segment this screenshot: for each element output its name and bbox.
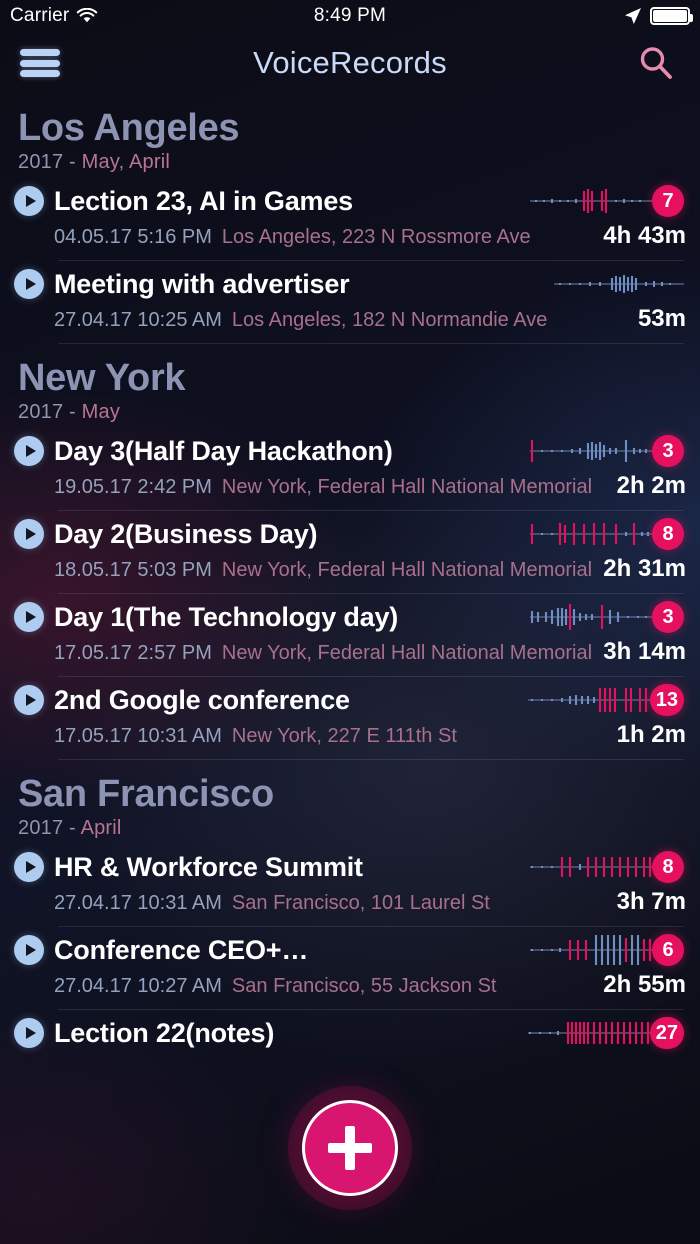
record-title: Day 1(The Technology day) [54, 602, 530, 633]
record-marker-badge: 7 [652, 185, 684, 217]
record-marker-badge: 27 [650, 1017, 684, 1049]
record-location: New York, Federal Hall National Memorial [222, 476, 609, 499]
record-waveform: 6 [530, 933, 686, 967]
section-header: Los Angeles2017 - May, April [0, 94, 700, 178]
status-bar-right [624, 7, 690, 25]
section-city-name: San Francisco [18, 774, 700, 815]
battery-full-icon [650, 7, 690, 25]
record-marker-badge: 8 [652, 851, 684, 883]
section-subtitle: 2017 - April [18, 817, 700, 840]
play-icon[interactable] [14, 436, 44, 466]
record-waveform: 13 [528, 683, 686, 717]
navigation-bar: VoiceRecords [0, 32, 700, 94]
record-row-top: HR & Workforce Summit8 [14, 850, 686, 884]
record-location: San Francisco, 55 Jackson St [232, 975, 595, 998]
section-city-name: New York [18, 358, 700, 399]
record-waveform: 8 [530, 850, 686, 884]
record-title: Meeting with advertiser [54, 269, 554, 300]
add-record-button[interactable] [302, 1100, 398, 1196]
record-row[interactable]: 2nd Google conference1317.05.17 10:31 AM… [0, 677, 700, 759]
record-row[interactable]: Day 3(Half Day Hackathon)319.05.17 2:42 … [0, 428, 700, 510]
record-waveform: 8 [530, 517, 686, 551]
record-marker-badge: 3 [652, 435, 684, 467]
record-waveform: 27 [528, 1016, 686, 1050]
play-icon[interactable] [14, 852, 44, 882]
record-row-top: Conference CEO+…6 [14, 933, 686, 967]
record-row-bottom: 17.05.17 10:31 AMNew York, 227 E 111th S… [14, 721, 686, 749]
record-marker-badge: 6 [652, 934, 684, 966]
record-waveform: 7 [530, 184, 686, 218]
record-row-bottom: 27.04.17 10:25 AMLos Angeles, 182 N Norm… [14, 305, 686, 333]
record-location: New York, 227 E 111th St [232, 725, 609, 748]
section-header: San Francisco2017 - April [0, 760, 700, 844]
record-row-top: Meeting with advertiser [14, 267, 686, 301]
record-date: 17.05.17 10:31 AM [54, 725, 222, 748]
play-icon[interactable] [14, 269, 44, 299]
record-title: 2nd Google conference [54, 685, 528, 716]
record-row-bottom: 19.05.17 2:42 PMNew York, Federal Hall N… [14, 472, 686, 500]
section-year: 2017 - [18, 401, 82, 423]
record-location: New York, Federal Hall National Memorial [222, 642, 595, 665]
section-header: New York2017 - May [0, 344, 700, 428]
section-months: April [81, 817, 122, 839]
record-date: 27.04.17 10:31 AM [54, 892, 222, 915]
records-list[interactable]: Los Angeles2017 - May, AprilLection 23, … [0, 94, 700, 1064]
record-location: New York, Federal Hall National Memorial [222, 559, 595, 582]
page-title: VoiceRecords [253, 45, 447, 81]
record-row-top: Lection 22(notes)27 [14, 1016, 686, 1050]
hamburger-menu-icon[interactable] [20, 46, 60, 80]
status-bar: Carrier 8:49 PM [0, 0, 700, 32]
record-row[interactable]: Lection 23, AI in Games704.05.17 5:16 PM… [0, 178, 700, 260]
hamburger-bar [20, 49, 60, 56]
record-duration: 1h 2m [617, 721, 686, 749]
record-waveform [554, 267, 686, 301]
section-months: May [82, 401, 120, 423]
record-row-top: Day 3(Half Day Hackathon)3 [14, 434, 686, 468]
record-date: 04.05.17 5:16 PM [54, 226, 212, 249]
record-title: Lection 22(notes) [54, 1018, 528, 1049]
app-screen: Carrier 8:49 PM Voice [0, 0, 700, 1244]
record-row-top: 2nd Google conference13 [14, 683, 686, 717]
search-icon[interactable] [634, 41, 678, 85]
record-row[interactable]: Meeting with advertiser27.04.17 10:25 AM… [0, 261, 700, 343]
record-date: 19.05.17 2:42 PM [54, 476, 212, 499]
record-row[interactable]: HR & Workforce Summit827.04.17 10:31 AMS… [0, 844, 700, 926]
record-duration: 4h 43m [603, 222, 686, 250]
section-subtitle: 2017 - May, April [18, 151, 700, 174]
record-marker-badge: 3 [652, 601, 684, 633]
record-duration: 2h 55m [603, 971, 686, 999]
record-title: Day 2(Business Day) [54, 519, 530, 550]
record-marker-badge: 8 [652, 518, 684, 550]
location-arrow-icon [624, 7, 642, 25]
record-date: 17.05.17 2:57 PM [54, 642, 212, 665]
record-location: Los Angeles, 182 N Normandie Ave [232, 309, 630, 332]
record-row-top: Lection 23, AI in Games7 [14, 184, 686, 218]
section-year: 2017 - [18, 151, 82, 173]
record-duration: 2h 31m [603, 555, 686, 583]
record-row-bottom: 04.05.17 5:16 PMLos Angeles, 223 N Rossm… [14, 222, 686, 250]
section-subtitle: 2017 - May [18, 401, 700, 424]
hamburger-bar [20, 70, 60, 77]
record-title: Day 3(Half Day Hackathon) [54, 436, 530, 467]
record-row-bottom: 18.05.17 5:03 PMNew York, Federal Hall N… [14, 555, 686, 583]
record-row[interactable]: Day 1(The Technology day)317.05.17 2:57 … [0, 594, 700, 676]
record-location: San Francisco, 101 Laurel St [232, 892, 609, 915]
record-row-bottom: 27.04.17 10:31 AMSan Francisco, 101 Laur… [14, 888, 686, 916]
play-icon[interactable] [14, 186, 44, 216]
record-marker-badge: 13 [650, 684, 684, 716]
play-icon[interactable] [14, 1018, 44, 1048]
record-duration: 3h 14m [603, 638, 686, 666]
record-row[interactable]: Lection 22(notes)27 [0, 1010, 700, 1064]
record-date: 27.04.17 10:27 AM [54, 975, 222, 998]
record-row[interactable]: Day 2(Business Day)818.05.17 5:03 PMNew … [0, 511, 700, 593]
record-row-bottom: 27.04.17 10:27 AMSan Francisco, 55 Jacks… [14, 971, 686, 999]
record-row-bottom: 17.05.17 2:57 PMNew York, Federal Hall N… [14, 638, 686, 666]
status-bar-time: 8:49 PM [0, 5, 700, 27]
record-waveform: 3 [530, 434, 686, 468]
play-icon[interactable] [14, 685, 44, 715]
record-waveform: 3 [530, 600, 686, 634]
play-icon[interactable] [14, 519, 44, 549]
section-months: May, April [82, 151, 170, 173]
record-date: 18.05.17 5:03 PM [54, 559, 212, 582]
record-row[interactable]: Conference CEO+…627.04.17 10:27 AMSan Fr… [0, 927, 700, 1009]
record-date: 27.04.17 10:25 AM [54, 309, 222, 332]
play-icon[interactable] [14, 935, 44, 965]
section-year: 2017 - [18, 817, 81, 839]
record-row-top: Day 1(The Technology day)3 [14, 600, 686, 634]
record-location: Los Angeles, 223 N Rossmore Ave [222, 226, 595, 249]
plus-icon [345, 1126, 355, 1170]
record-row-top: Day 2(Business Day)8 [14, 517, 686, 551]
record-duration: 53m [638, 305, 686, 333]
section-city-name: Los Angeles [18, 108, 700, 149]
record-title: HR & Workforce Summit [54, 852, 530, 883]
record-title: Conference CEO+… [54, 935, 530, 966]
hamburger-bar [20, 60, 60, 67]
record-title: Lection 23, AI in Games [54, 186, 530, 217]
record-duration: 3h 7m [617, 888, 686, 916]
record-duration: 2h 2m [617, 472, 686, 500]
play-icon[interactable] [14, 602, 44, 632]
